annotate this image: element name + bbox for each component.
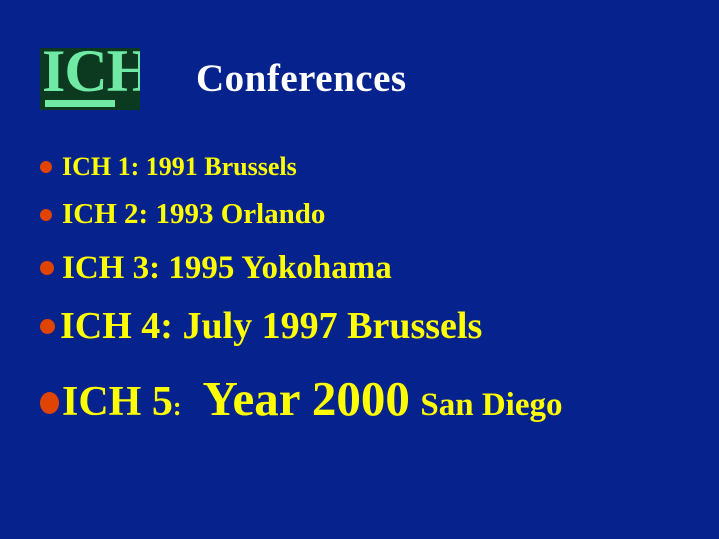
list-item: ICH 2: 1993 Orlando bbox=[40, 198, 325, 231]
ich-logo-underline bbox=[45, 100, 115, 107]
list-item-colon: : bbox=[173, 392, 182, 421]
list-item: ICH 4: July 1997 Brussels bbox=[40, 304, 482, 348]
slide-canvas: ICH Conferences ICH 1: 1991 Brussels ICH… bbox=[0, 0, 719, 539]
list-item-spacer bbox=[182, 379, 203, 425]
list-item-label: ICH 2: 1993 Orlando bbox=[62, 198, 325, 231]
bullet-dot-icon bbox=[40, 319, 55, 334]
list-item-city: San Diego bbox=[420, 387, 562, 423]
page-title: Conferences bbox=[196, 57, 407, 101]
bullet-dot-icon bbox=[40, 209, 52, 221]
ich-logo: ICH bbox=[40, 48, 140, 110]
list-item: ICH 1: 1991 Brussels bbox=[40, 152, 297, 182]
list-item-label-part: ICH 5 bbox=[62, 379, 173, 425]
bullet-dot-icon bbox=[40, 392, 59, 414]
list-item-label: ICH 1: 1991 Brussels bbox=[62, 152, 297, 182]
list-item-label: ICH 3: 1995 Yokohama bbox=[62, 249, 392, 287]
ich-logo-text: ICH bbox=[42, 48, 140, 102]
list-item: ICH 3: 1995 Yokohama bbox=[40, 249, 392, 287]
list-item-year: Year 2000 bbox=[203, 371, 410, 426]
list-item-label: ICH 5: Year 2000 San Diego bbox=[62, 374, 562, 432]
list-item-spacer-2 bbox=[410, 379, 421, 425]
list-item: ICH 5: Year 2000 San Diego bbox=[40, 374, 562, 432]
bullet-dot-icon bbox=[40, 161, 52, 173]
list-item-label: ICH 4: July 1997 Brussels bbox=[60, 304, 482, 348]
bullet-dot-icon bbox=[40, 261, 54, 275]
